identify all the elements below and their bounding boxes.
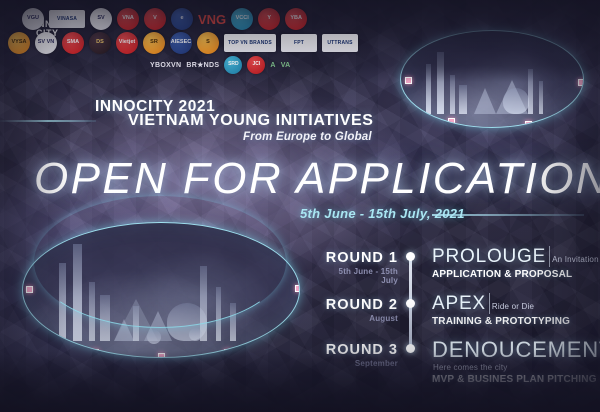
vn-mono-logo[interactable]: VA xyxy=(281,62,291,69)
stage-tag: An Invitation xyxy=(552,255,599,265)
partner-logo-row-2: VYSASV VNSMADSVietjetSRAIESECSTOP VN BRA… xyxy=(8,32,358,54)
e-logo[interactable]: e xyxy=(171,8,193,30)
stage-tag: Ride or Die xyxy=(492,302,534,312)
vng-logo[interactable]: VNG xyxy=(198,12,226,27)
heading-rule-left xyxy=(0,120,96,122)
yba-logo[interactable]: YBA xyxy=(285,8,307,30)
stage-divider xyxy=(549,246,550,267)
timeline-dot-round-2 xyxy=(406,299,415,308)
partner-logo-row-1: VGUVINASASVVNAVeVNGVCCIYYBA xyxy=(22,8,307,30)
poster-headline-open-for-application: OPEN FOR APPLICATION xyxy=(34,157,600,201)
round-period: 5th June - 15th July xyxy=(320,267,398,285)
sunrise-logo[interactable]: SR xyxy=(143,32,165,54)
timeline-dot-round-1 xyxy=(406,252,415,261)
svvn-logo[interactable]: SV VN xyxy=(35,32,57,54)
y-logo[interactable]: Y xyxy=(258,8,280,30)
partner-logo-row-3: YBOXVNBR★NDSSRDJCIAVA xyxy=(150,56,291,74)
poster-tagline: From Europe to Global xyxy=(243,131,372,143)
stage-heading: APEX Ride or Die xyxy=(432,293,570,315)
fpt-logo[interactable]: FPT xyxy=(281,34,317,52)
vgu-logo[interactable]: VGU xyxy=(22,8,44,30)
top-brands-logo[interactable]: TOP VN BRANDS xyxy=(224,34,276,52)
innocity-open-for-application-poster: INNOCITY 2021 VIETNAM YOUNG INITIATIVES … xyxy=(0,0,600,412)
stage-item-prolouge: PROLOUGE An Invitation APPLICATION & PRO… xyxy=(432,246,599,280)
vcci-logo[interactable]: VCCI xyxy=(231,8,253,30)
stage-description: TRAINING & PROTOTYPING xyxy=(432,316,570,327)
round-item-1: ROUND 1 5th June - 15th July xyxy=(320,250,398,285)
yboxvn-logo[interactable]: YBOXVN xyxy=(150,62,181,69)
circle-blue-logo[interactable]: SRD xyxy=(224,56,242,74)
date-rule-right xyxy=(432,214,584,216)
green-logo[interactable]: A xyxy=(270,62,275,69)
vietnam-airlines-logo[interactable]: VNA xyxy=(117,8,139,30)
poster-footer: innocitysite.com InnoCity - Vietnam Youn… xyxy=(0,350,600,412)
stage-heading: PROLOUGE An Invitation xyxy=(432,246,599,268)
decorative-arc xyxy=(34,196,286,328)
poster-title-vietnam-young-initiatives: VIETNAM YOUNG INITIATIVES xyxy=(128,112,374,130)
round-label: ROUND 2 xyxy=(320,297,398,313)
v-logo[interactable]: V xyxy=(144,8,166,30)
vysa-logo[interactable]: VYSA xyxy=(8,32,30,54)
startup-logo[interactable]: S xyxy=(197,32,219,54)
round-item-2: ROUND 2 August xyxy=(320,297,398,323)
stage-description: APPLICATION & PROPOSAL xyxy=(432,269,599,280)
sma-logo[interactable]: SMA xyxy=(62,32,84,54)
vietjet-logo[interactable]: Vietjet xyxy=(116,32,138,54)
stage-divider xyxy=(489,293,490,314)
stage-name: APEX xyxy=(432,293,486,315)
partner-logo-bar: INNO CITY VGUVINASASVVNAVeVNGVCCIYYBA VY… xyxy=(0,0,600,82)
uptrans-logo[interactable]: UTTRANS xyxy=(322,34,358,52)
vinasa-logo[interactable]: VINASA xyxy=(49,10,85,28)
stage-name: PROLOUGE xyxy=(432,246,546,268)
round-label: ROUND 1 xyxy=(320,250,398,266)
circle-red-logo[interactable]: JCI xyxy=(247,56,265,74)
dance-logo[interactable]: DS xyxy=(89,32,111,54)
stage-item-apex: APEX Ride or Die TRAINING & PROTOTYPING xyxy=(432,293,570,327)
aiesec-logo[interactable]: AIESEC xyxy=(170,32,192,54)
round-period: August xyxy=(320,314,398,323)
brands-logo[interactable]: BR★NDS xyxy=(186,61,219,69)
partner-shield-logo[interactable]: SV xyxy=(90,8,112,30)
